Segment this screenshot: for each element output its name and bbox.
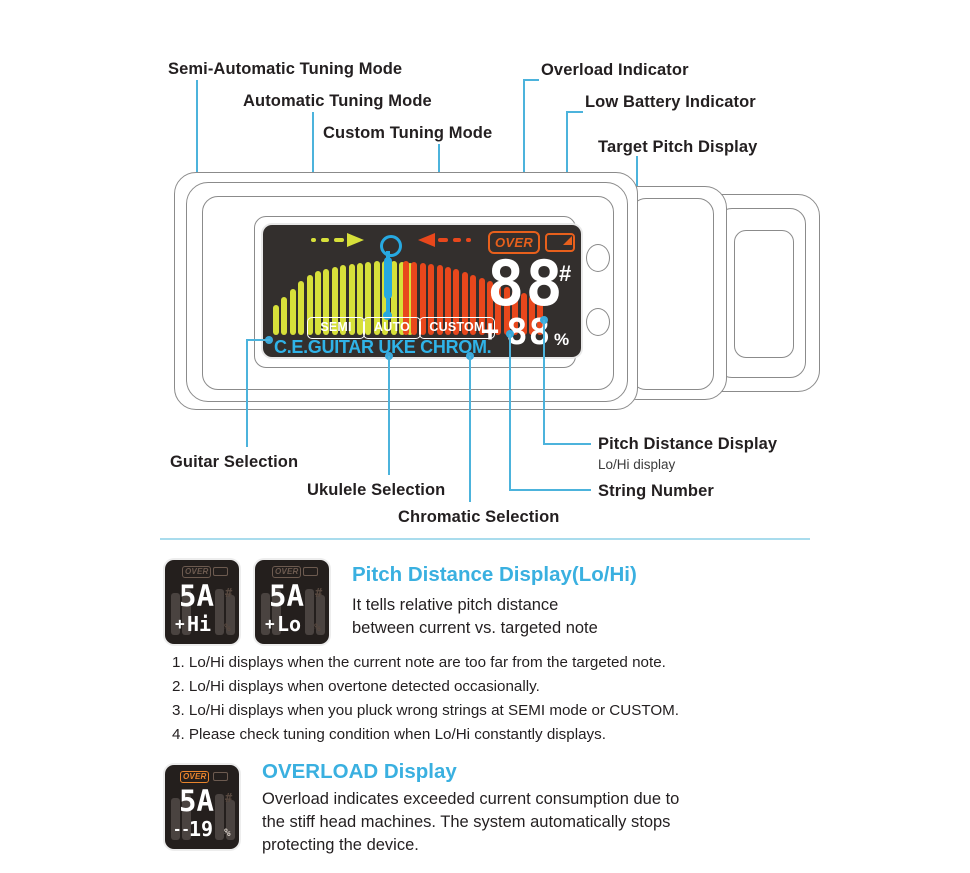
arrow-right-icon bbox=[311, 233, 381, 247]
mini-display-hi: OVER 5A # + Hi % bbox=[165, 560, 239, 644]
body-overload-line1: Overload indicates exceeded current cons… bbox=[262, 788, 679, 811]
mini-note-digits: 5A bbox=[179, 787, 214, 816]
mini-display-lo: OVER 5A # + Lo % bbox=[255, 560, 329, 644]
center-needle-ring bbox=[380, 235, 402, 257]
mini-note-digits: 5A bbox=[269, 582, 304, 611]
target-pitch-digits: 88 bbox=[487, 253, 564, 315]
callout-overload-indicator: Overload Indicator bbox=[541, 61, 689, 80]
leader-line-string-number-v bbox=[509, 334, 511, 490]
body-pitch-distance-line2: between current vs. targeted note bbox=[352, 617, 598, 640]
meter-bar-left bbox=[281, 297, 287, 335]
mini-sharp-symbol: # bbox=[225, 792, 232, 804]
mini-pitch-sign: + bbox=[175, 616, 185, 632]
lohi-note-1: 1. Lo/Hi displays when the current note … bbox=[172, 651, 666, 676]
callout-low-battery-indicator: Low Battery Indicator bbox=[585, 93, 756, 112]
body-pitch-distance-line1: It tells relative pitch distance bbox=[352, 594, 558, 617]
leader-line-chrom bbox=[469, 356, 471, 502]
leader-line-battery-h bbox=[566, 111, 583, 113]
leader-line-overload-h bbox=[523, 79, 539, 81]
mini-pitch-value: Hi bbox=[187, 614, 211, 634]
leader-line-guitar-v bbox=[246, 339, 248, 447]
mini-note-digits: 5A bbox=[179, 582, 214, 611]
mini-battery-icon bbox=[213, 772, 228, 781]
mini-over-badge: OVER bbox=[182, 566, 211, 578]
leader-line-uke bbox=[388, 356, 390, 475]
section-divider bbox=[160, 538, 810, 540]
lohi-note-4: 4. Please check tuning condition when Lo… bbox=[172, 723, 606, 748]
instrument-selection-row: C.E.GUITAR UKE CHROM. bbox=[274, 337, 491, 357]
meter-bar-left bbox=[290, 289, 296, 335]
percent-symbol: % bbox=[554, 330, 569, 350]
center-needle-body bbox=[384, 257, 392, 299]
leader-line-pitch-distance-v bbox=[543, 320, 545, 444]
device-button-top[interactable] bbox=[586, 244, 610, 272]
mini-pitch-sign: -- bbox=[173, 823, 190, 837]
callout-automatic: Automatic Tuning Mode bbox=[243, 92, 432, 111]
meter-bar-left bbox=[273, 305, 279, 335]
leader-line-string-number-h bbox=[509, 489, 591, 491]
callout-ukulele-selection: Ukulele Selection bbox=[307, 481, 445, 500]
callout-pitch-distance-sub: Lo/Hi display bbox=[598, 457, 675, 472]
callout-string-number: String Number bbox=[598, 482, 714, 501]
mini-percent-symbol: % bbox=[314, 622, 321, 633]
mini-display-overload: OVER 5A # -- 19 % bbox=[165, 765, 239, 849]
mini-over-badge: OVER bbox=[180, 771, 209, 783]
heading-pitch-distance: Pitch Distance Display(Lo/Hi) bbox=[352, 563, 637, 587]
tuner-lcd-screen: OVER 88 # + 88 % SEMI AUTO CUSTOM C.E.GU… bbox=[263, 225, 581, 357]
sharp-symbol: # bbox=[559, 261, 571, 287]
callout-guitar-selection: Guitar Selection bbox=[170, 453, 298, 472]
callout-pitch-distance-display: Pitch Distance Display bbox=[598, 435, 777, 454]
mode-badge-semi[interactable]: SEMI bbox=[307, 317, 365, 339]
callout-target-pitch-display: Target Pitch Display bbox=[598, 138, 757, 157]
body-overload-line3: protecting the device. bbox=[262, 834, 419, 857]
mini-battery-icon bbox=[303, 567, 318, 576]
callout-semi-automatic: Semi-Automatic Tuning Mode bbox=[168, 60, 402, 79]
meter-bar-left bbox=[298, 281, 304, 335]
mode-badge-custom[interactable]: CUSTOM bbox=[419, 317, 495, 339]
leader-line-pitch-distance-h bbox=[543, 443, 591, 445]
mode-badge-auto[interactable]: AUTO bbox=[363, 317, 421, 339]
mini-sharp-symbol: # bbox=[225, 587, 232, 599]
callout-custom: Custom Tuning Mode bbox=[323, 124, 492, 143]
mini-over-badge: OVER bbox=[272, 566, 301, 578]
body-overload-line2: the stiff head machines. The system auto… bbox=[262, 811, 670, 834]
mini-battery-icon bbox=[213, 567, 228, 576]
device-clip-pad bbox=[734, 230, 794, 358]
lohi-note-2: 2. Lo/Hi displays when overtone detected… bbox=[172, 675, 540, 700]
mini-sharp-symbol: # bbox=[315, 587, 322, 599]
mini-percent-symbol: % bbox=[224, 622, 231, 633]
device-button-bottom[interactable] bbox=[586, 308, 610, 336]
mini-pitch-value: Lo bbox=[277, 614, 301, 634]
leader-line-guitar-h bbox=[246, 339, 270, 341]
lohi-note-3: 3. Lo/Hi displays when you pluck wrong s… bbox=[172, 699, 679, 724]
callout-chromatic-selection: Chromatic Selection bbox=[398, 508, 559, 527]
mini-pitch-value: 19 bbox=[189, 819, 213, 839]
mini-percent-symbol: % bbox=[224, 827, 231, 838]
heading-overload: OVERLOAD Display bbox=[262, 760, 457, 784]
mini-pitch-sign: + bbox=[265, 616, 275, 632]
device-hinge-inner bbox=[630, 198, 714, 390]
arrow-left-icon bbox=[418, 233, 488, 247]
